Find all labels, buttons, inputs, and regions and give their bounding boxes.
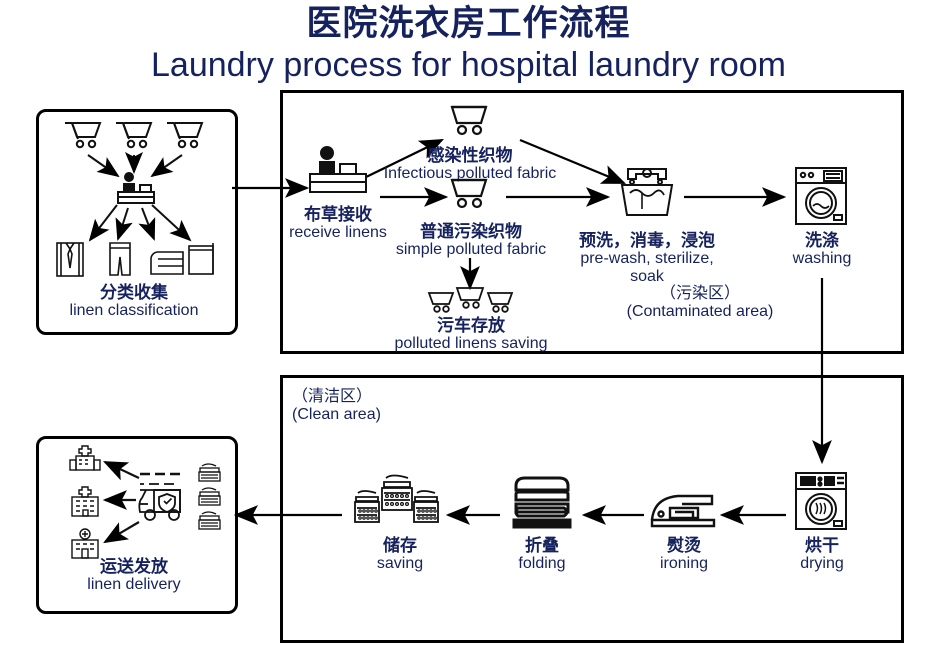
caption-linen-delivery: 运送发放 linen delivery xyxy=(36,557,232,594)
delivery-truck-icon xyxy=(136,468,198,528)
linen-stack-icon xyxy=(196,462,226,538)
